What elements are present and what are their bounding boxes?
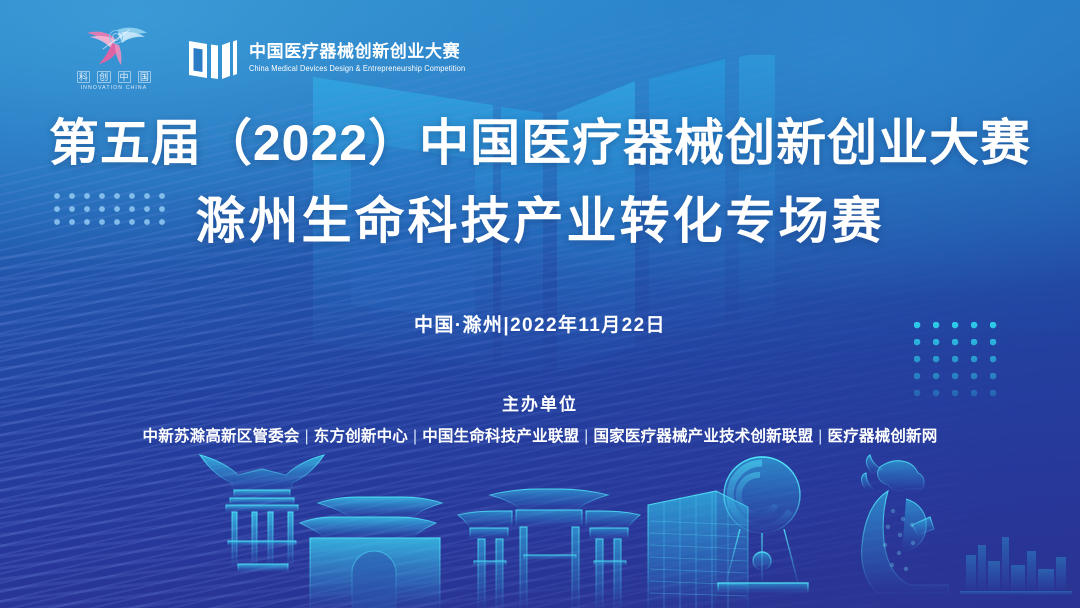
main-title-line-1: 第五届（2022）中国医疗器械创新创业大赛: [0, 112, 1080, 174]
kechuang-zhongguo-logo: 科 创 中 国 INNOVATION CHINA: [66, 24, 162, 91]
landmark-modern-high-rise-tower: [648, 491, 748, 608]
diagonal-light-rays: [0, 0, 1080, 608]
organizers-list: 中新苏滁高新区管委会|东方创新中心|中国生命科技产业联盟|国家医疗器械产业技术创…: [0, 424, 1080, 446]
organizer-item: 医疗器械创新网: [828, 428, 938, 445]
header-logo-group: 科 创 中 国 INNOVATION CHINA 中国医疗器械创新创业大赛 Ch…: [66, 24, 465, 91]
organizer-item: 东方创新中心: [314, 428, 408, 445]
landmark-city-skyline-strip: [960, 537, 1072, 595]
city-skyline-illustration: [0, 433, 1080, 608]
organizer-separator: |: [579, 428, 593, 445]
organizer-item: 中国生命科技产业联盟: [422, 428, 579, 445]
organizer-item: 中新苏滁高新区管委会: [143, 428, 300, 445]
landmark-circular-ring-sculpture: [718, 457, 808, 592]
kechuang-char-0: 科: [77, 71, 90, 83]
open-book-door-icon: [188, 34, 238, 82]
title-block: 第五届（2022）中国医疗器械创新创业大赛 滁州生命科技产业转化专场赛: [0, 112, 1080, 252]
landmark-chinese-city-gate: [300, 497, 442, 608]
organizers-label: 主办单位: [0, 390, 1080, 415]
landmark-merlion-statue: [862, 455, 949, 593]
organizer-separator: |: [408, 428, 422, 445]
kechuang-char-1: 创: [97, 71, 110, 83]
organizer-item: 国家医疗器械产业技术创新联盟: [593, 428, 813, 445]
background-watermark: [0, 0, 1080, 608]
organizer-separator: |: [813, 428, 827, 445]
competition-en-name: China Medical Devices Design & Entrepren…: [249, 64, 465, 74]
main-title-line-2: 滁州生命科技产业转化专场赛: [0, 190, 1080, 252]
landmark-chinese-pavilion: [200, 455, 324, 571]
landmark-chinese-paifang-archway: [458, 489, 640, 608]
kechuang-char-2: 中: [118, 71, 131, 83]
competition-logo: 中国医疗器械创新创业大赛 China Medical Devices Desig…: [188, 34, 465, 82]
location-date-text: 中国·滁州|2022年11月22日: [0, 310, 1080, 337]
kechuang-en-label: INNOVATION CHINA: [81, 85, 148, 91]
competition-zh-name: 中国医疗器械创新创业大赛: [249, 42, 465, 62]
phoenix-bird-icon: [77, 24, 151, 68]
organizer-separator: |: [300, 428, 314, 445]
event-banner: 科 创 中 国 INNOVATION CHINA 中国医疗器械创新创业大赛 Ch…: [0, 0, 1080, 608]
kechuang-char-3: 国: [138, 71, 151, 83]
kechuang-zh-chars: 科 创 中 国: [77, 71, 151, 83]
